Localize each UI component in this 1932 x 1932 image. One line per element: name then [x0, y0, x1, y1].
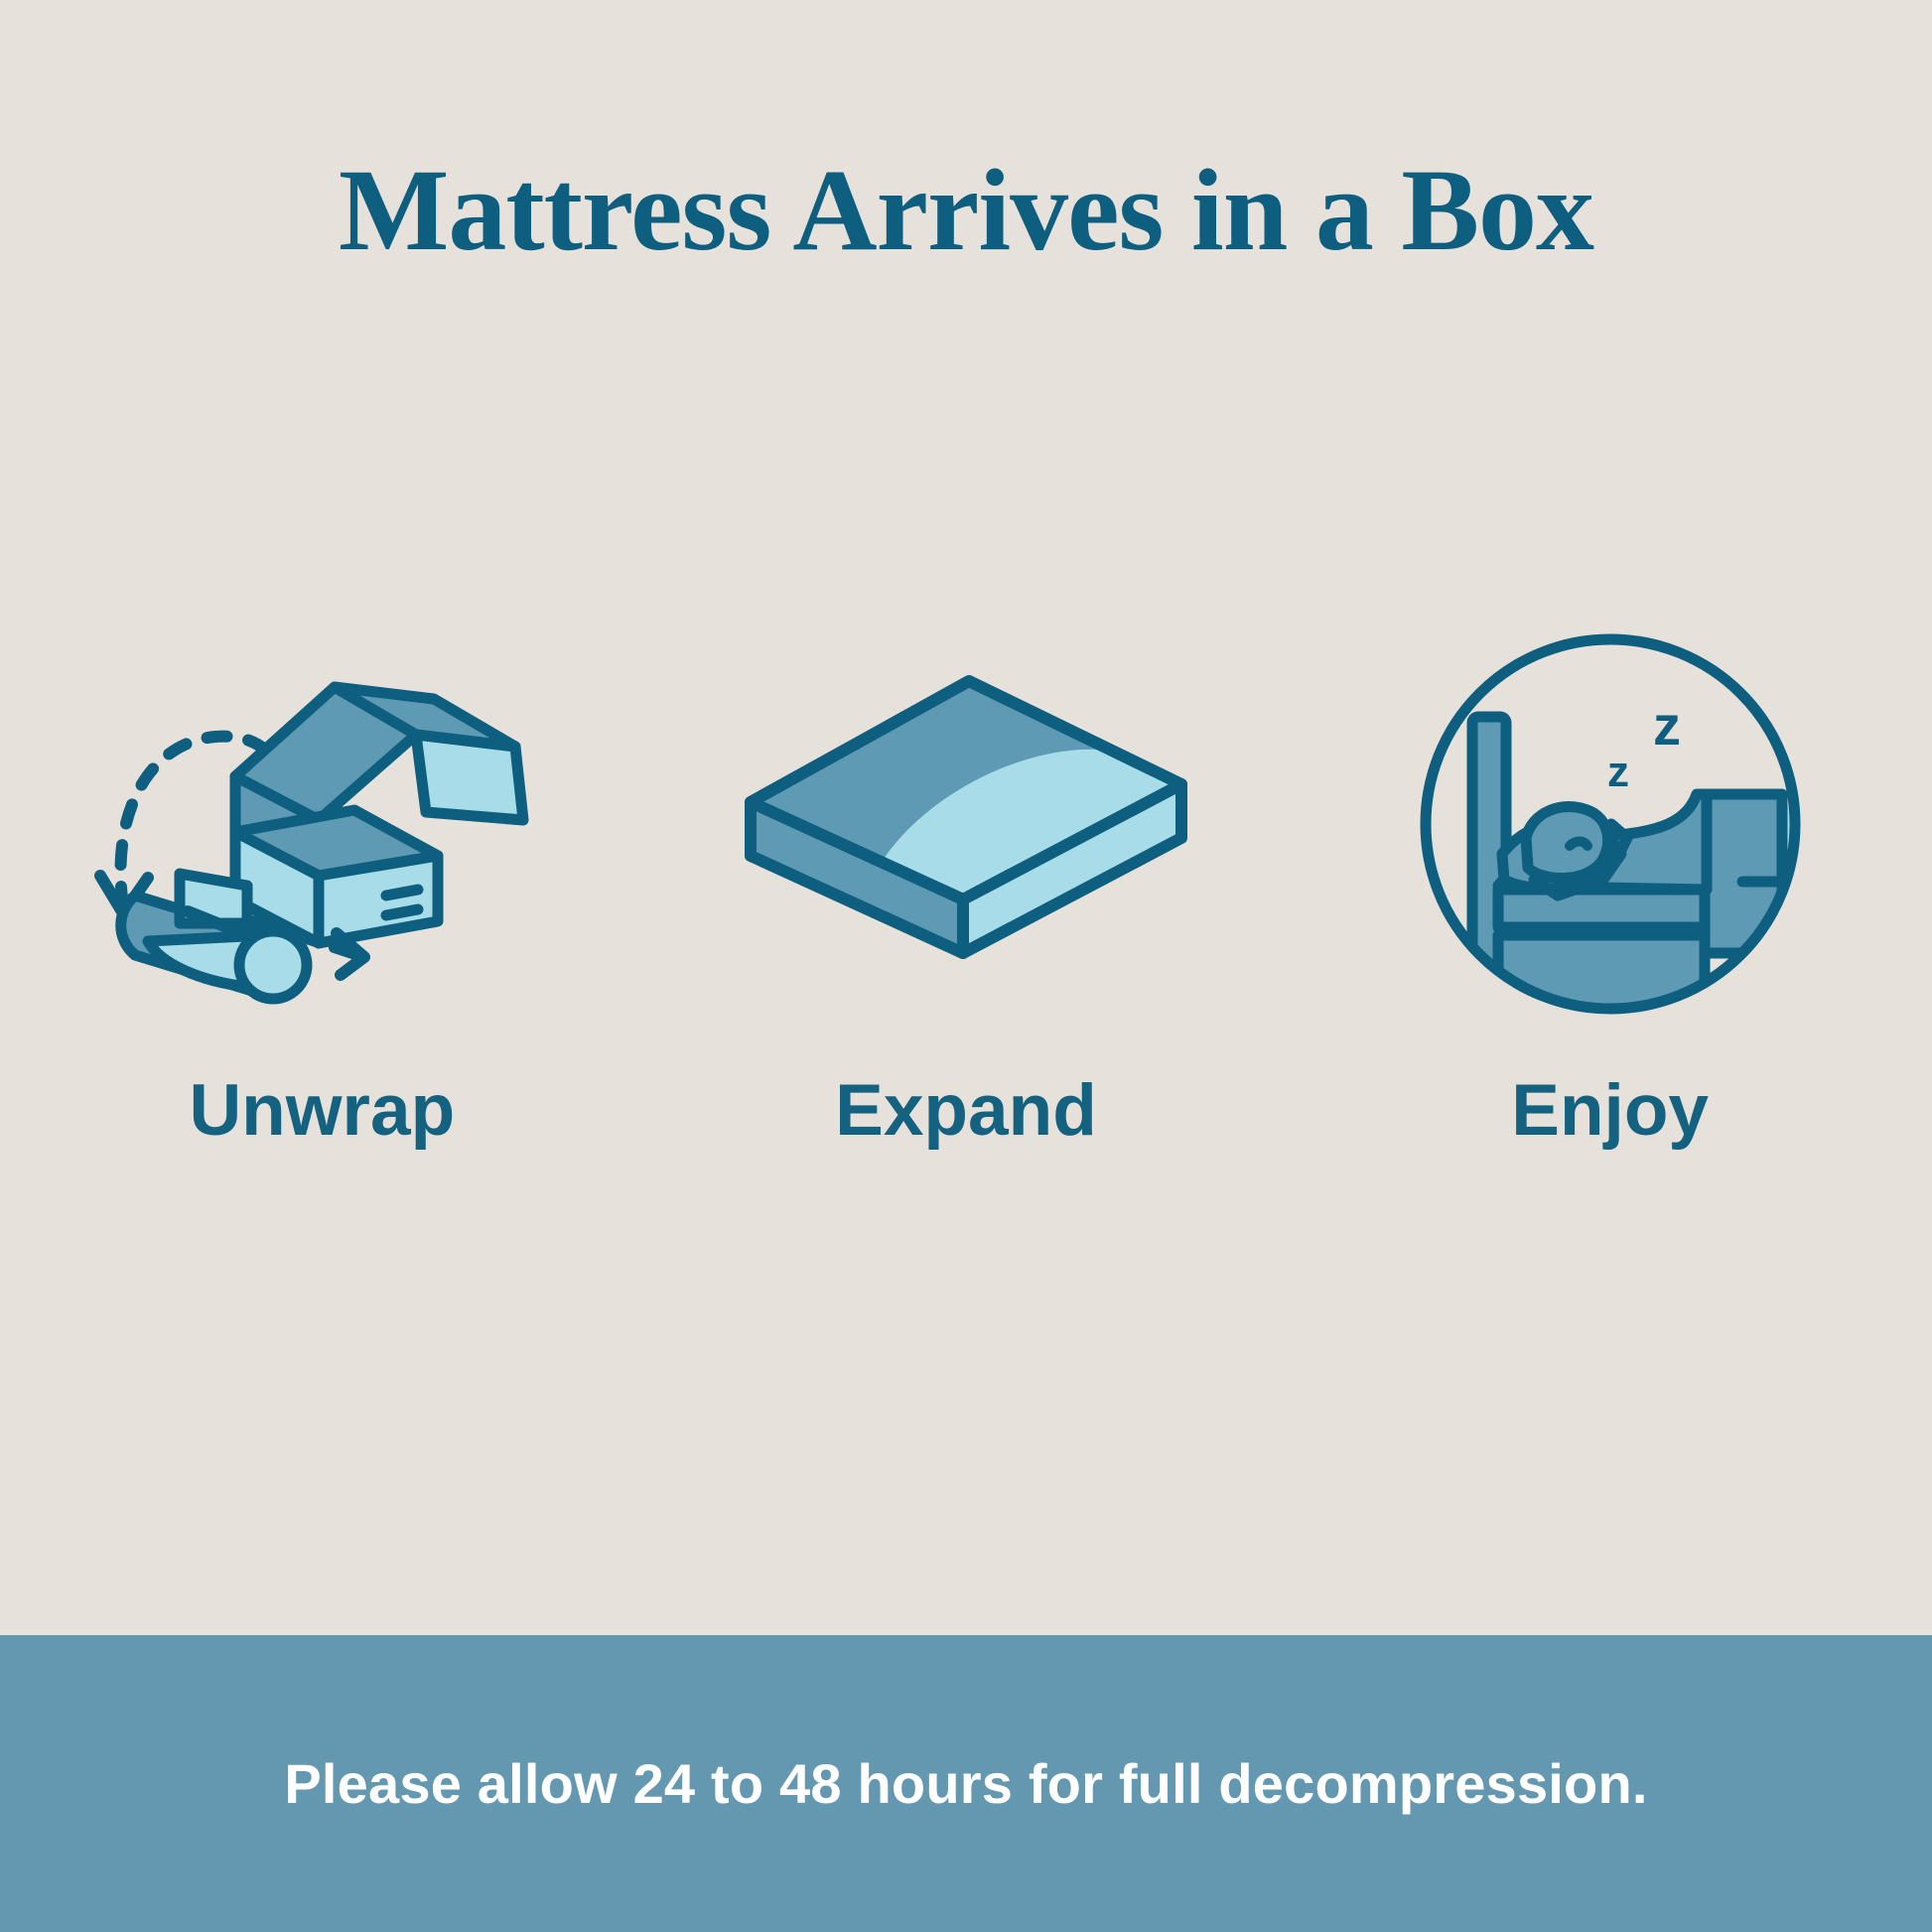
- bed-far-panel: [1705, 794, 1782, 953]
- box-label-line-2: [386, 909, 418, 915]
- step-label-unwrap: Unwrap: [189, 1074, 455, 1147]
- banner-message: Please allow 24 to 48 hours for full dec…: [284, 1751, 1647, 1816]
- bottom-banner: Please allow 24 to 48 hours for full dec…: [0, 1635, 1932, 1932]
- enjoy-icon: z z: [1377, 625, 1844, 1023]
- box-flap-right: [416, 735, 523, 820]
- step-unwrap: Unwrap: [14, 625, 629, 1147]
- step-enjoy: z z Enjoy: [1303, 625, 1918, 1147]
- infographic-canvas: Mattress Arrives in a Box: [0, 0, 1932, 1932]
- page-title: Mattress Arrives in a Box: [0, 149, 1932, 272]
- steps-row: Unwrap: [0, 625, 1932, 1181]
- unwrap-icon: [88, 625, 555, 1023]
- sleep-mark-z-small: z: [1607, 748, 1629, 796]
- step-label-enjoy: Enjoy: [1511, 1074, 1709, 1147]
- bed-mattress-slab: [1498, 890, 1705, 927]
- box-label-line-1: [386, 890, 418, 896]
- expand-icon: [733, 625, 1199, 1023]
- person-closed-eye: [1570, 842, 1587, 847]
- step-label-expand: Expand: [835, 1074, 1097, 1147]
- rolled-mattress-end-cap: [239, 931, 307, 999]
- sleep-mark-z-large: z: [1653, 694, 1681, 757]
- step-expand: Expand: [658, 625, 1274, 1147]
